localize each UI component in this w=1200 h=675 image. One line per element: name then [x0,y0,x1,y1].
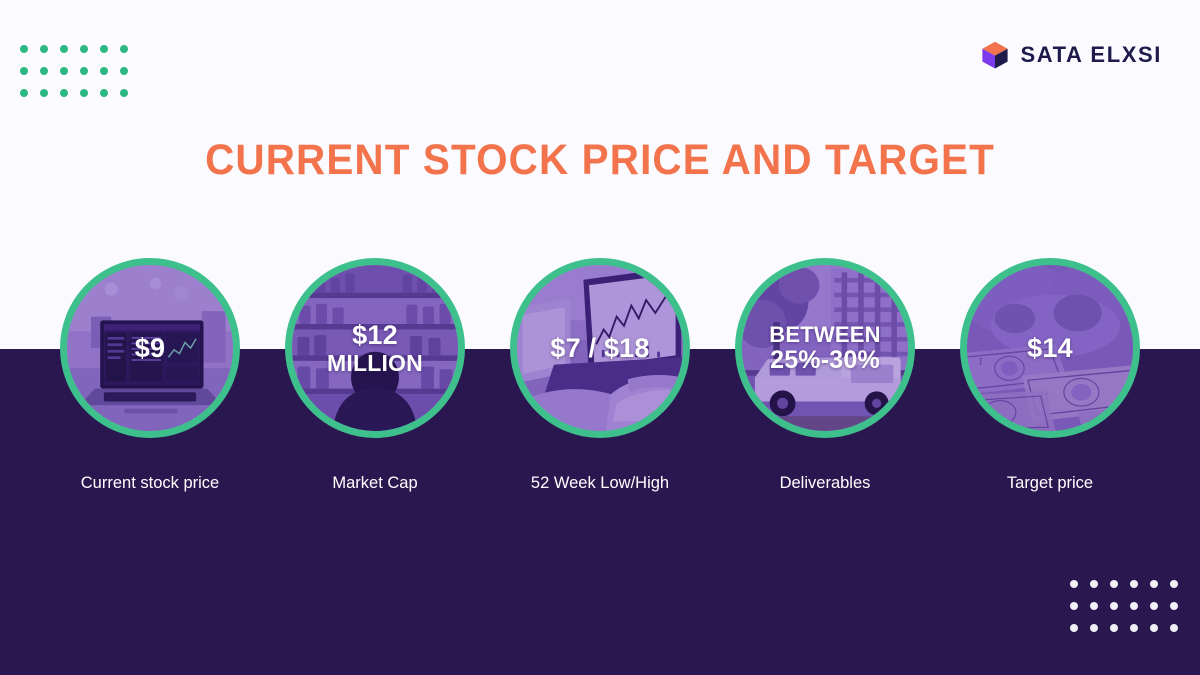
green-dot-grid [20,45,140,111]
metric-caption: Market Cap [332,474,417,493]
metric-caption: Target price [1007,474,1093,493]
dot [100,67,108,75]
metric-circle[interactable]: $7 / $18 [510,258,690,438]
dot [1150,580,1158,588]
dot [120,67,128,75]
cube-icon [980,40,1010,70]
white-dot-grid [1070,580,1190,646]
metric-value: $12 MILLION [292,265,458,431]
metric-circle[interactable]: $9 [60,258,240,438]
metric-value: BETWEEN 25%-30% [742,265,908,431]
dot [1150,624,1158,632]
metric-caption: 52 Week Low/High [531,474,669,493]
dot [20,45,28,53]
dot [1070,624,1078,632]
dot [60,67,68,75]
brand-logo: SATA ELXSI [980,40,1163,70]
metric-card[interactable]: $12 MILLION Market Cap [285,258,465,493]
page-title: CURRENT STOCK PRICE AND TARGET [36,136,1164,185]
dot [20,67,28,75]
dot [60,89,68,97]
dot [80,67,88,75]
dot [1110,580,1118,588]
metric-value-line1: $12 [352,321,398,349]
metric-value-line1: BETWEEN [769,323,880,346]
dot [1170,624,1178,632]
metric-value-line1: $7 / $18 [550,334,649,362]
dot [120,89,128,97]
dot [100,89,108,97]
metric-value-line2: MILLION [327,351,423,375]
dot [80,45,88,53]
metric-card[interactable]: $7 / $18 52 Week Low/High [510,258,690,493]
metric-card[interactable]: BETWEEN 25%-30% Deliverables [735,258,915,493]
dot [40,45,48,53]
metric-circle[interactable]: 1 21 [960,258,1140,438]
dot [1090,602,1098,610]
dot [1170,580,1178,588]
dot [100,45,108,53]
dot [80,89,88,97]
metric-value-line2: 25%-30% [770,347,880,373]
dot [1130,602,1138,610]
dot [1110,624,1118,632]
metric-circle[interactable]: BETWEEN 25%-30% [735,258,915,438]
metric-card[interactable]: $9 Current stock price [60,258,240,493]
dot [1070,602,1078,610]
dot [1110,602,1118,610]
dot [1150,602,1158,610]
slide-root: SATA ELXSI CURRENT STOCK PRICE AND TARGE… [0,0,1200,675]
dot [1090,580,1098,588]
metric-value: $9 [67,265,233,431]
dot [20,89,28,97]
metric-caption: Deliverables [780,474,871,493]
metric-card-row: $9 Current stock price [0,258,1200,493]
dot [1130,624,1138,632]
dot [40,67,48,75]
metric-card[interactable]: 1 21 [960,258,1140,493]
metric-value-line1: $9 [135,334,165,362]
metric-value: $14 [967,265,1133,431]
metric-circle[interactable]: $12 MILLION [285,258,465,438]
metric-caption: Current stock price [81,474,219,493]
dot [120,45,128,53]
dot [40,89,48,97]
logo-wordmark: SATA ELXSI [1021,42,1163,68]
dot [1090,624,1098,632]
dot [1070,580,1078,588]
dot [1130,580,1138,588]
dot [60,45,68,53]
metric-value-line1: $14 [1027,334,1073,362]
dot [1170,602,1178,610]
metric-value: $7 / $18 [517,265,683,431]
